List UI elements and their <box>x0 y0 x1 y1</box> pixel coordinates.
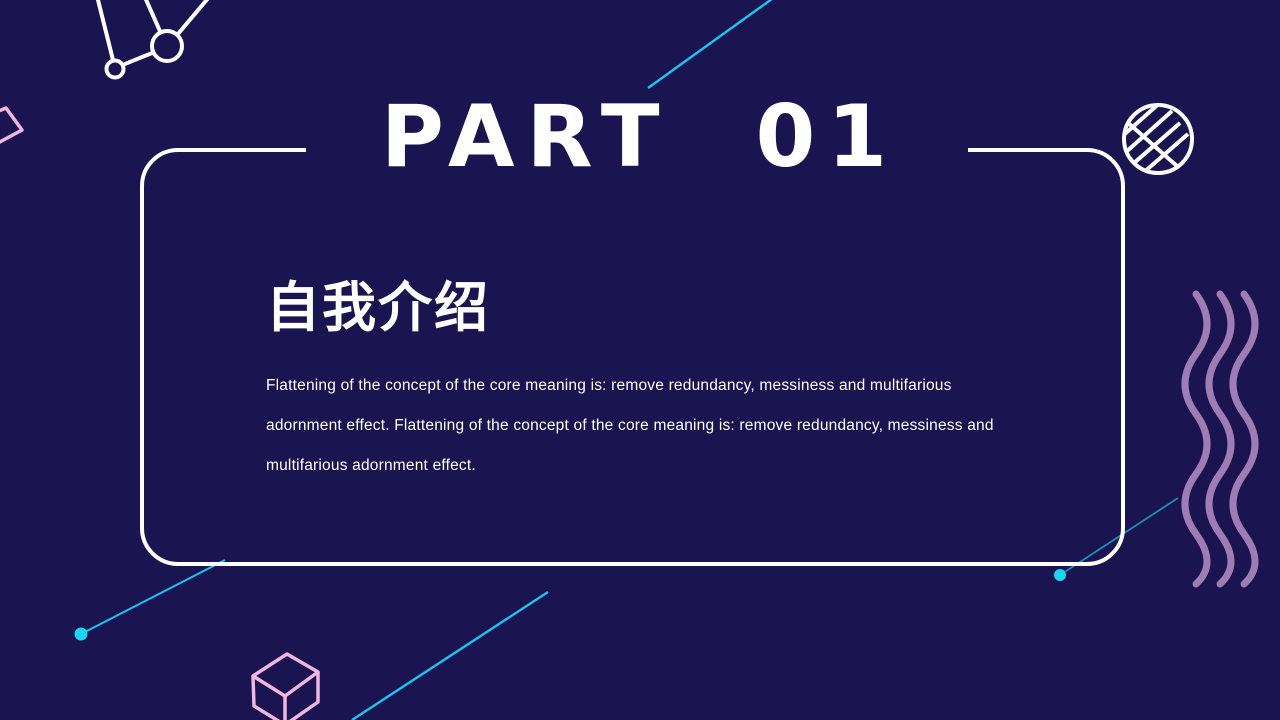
cyan-dot-bottom-left <box>75 628 88 641</box>
content-block: 自我介绍 Flattening of the concept of the co… <box>266 278 1026 485</box>
wireframe-cube-icon <box>253 654 318 720</box>
cyan-diagonal-line-top <box>648 0 790 88</box>
section-number-title: PART 01 <box>0 94 1280 180</box>
slide-body-text: Flattening of the concept of the core me… <box>266 338 1026 485</box>
cyan-dot-frame-corner <box>1054 569 1066 581</box>
slide-headline: 自我介绍 <box>266 278 1026 338</box>
cyan-line-bottom-left <box>81 560 225 634</box>
wavy-lines-icon <box>1185 294 1255 584</box>
node-graph-large-node <box>152 31 182 61</box>
slide-canvas: PART 01 自我介绍 Flattening of the concept o… <box>0 0 1280 720</box>
cyan-diagonal-line-bottom <box>352 592 548 720</box>
node-graph-small-node <box>107 61 124 78</box>
node-graph-icon <box>95 0 215 68</box>
